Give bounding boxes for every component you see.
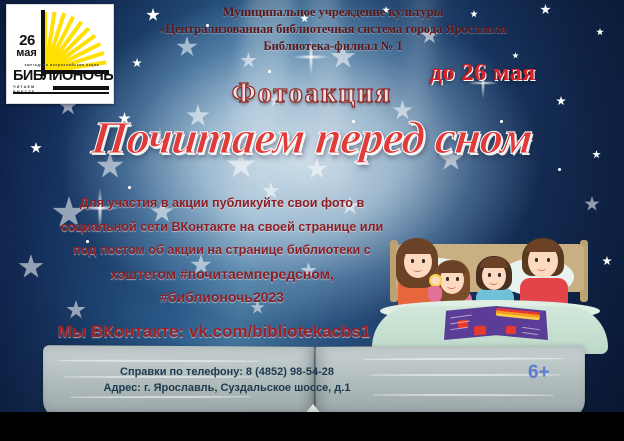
bottom-black-bar xyxy=(0,412,624,441)
footer-phone: Справки по телефону: 8 (4852) 98-54-28 xyxy=(62,364,392,380)
logo-month: мая xyxy=(11,48,42,59)
instructions-line-3: под постом об акции на странице библиоте… xyxy=(12,239,432,263)
instructions-line-1: Для участия в акции публикуйте свои фото… xyxy=(12,192,432,216)
age-rating-badge: 6+ xyxy=(528,362,550,384)
header-line-3: Библиотека-филиал № 1 xyxy=(128,38,538,55)
header-line-1: Муниципальное учреждение культуры xyxy=(128,4,538,21)
footer-address: Адрес: г. Ярославль, Суздальское шоссе, … xyxy=(62,380,392,396)
header-line-2: «Централизованная библиотечная система г… xyxy=(128,21,538,38)
poster-canvas: 26 мая ежегодная всероссийская акция БИБ… xyxy=(0,0,624,441)
hashtag-line-1: хэштегом #почитаемпередсном, xyxy=(12,263,432,287)
contact-footer: Справки по телефону: 8 (4852) 98-54-28 А… xyxy=(62,364,392,396)
instructions-line-2: социальной сети ВКонтакте на своей стран… xyxy=(12,216,432,240)
kicker-photoaction: Фотоакция xyxy=(0,78,624,110)
logo-day: 26 xyxy=(14,34,40,48)
hashtag-line-2: #библионочь2023 xyxy=(12,286,432,310)
logo-micro-line: ежегодная всероссийская акция xyxy=(15,63,109,67)
page-title: Почитаем перед сном xyxy=(0,112,624,164)
organization-header: Муниципальное учреждение культуры «Центр… xyxy=(128,4,538,55)
instructions-text: Для участия в акции публикуйте свои фото… xyxy=(12,192,432,310)
